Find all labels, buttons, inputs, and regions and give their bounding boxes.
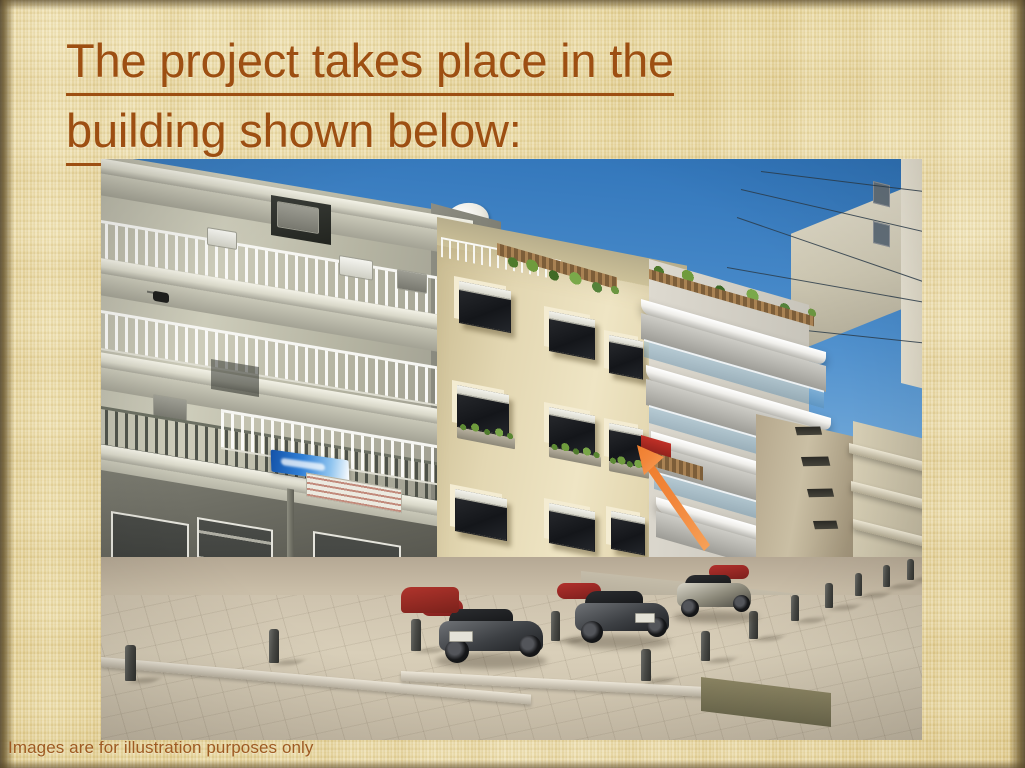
building-photograph xyxy=(101,159,922,740)
slide-edge-bottom xyxy=(0,760,1025,768)
footer-disclaimer: Images are for illustration purposes onl… xyxy=(8,738,314,758)
slide-edge-left xyxy=(0,0,14,768)
photo-vignette xyxy=(101,159,922,740)
title-line-1: The project takes place in the xyxy=(66,30,674,96)
title-line-2: building shown below: xyxy=(66,100,522,166)
slide-edge-top xyxy=(0,0,1025,10)
slide-edge-right xyxy=(1009,0,1025,768)
slide-canvas: The project takes place in the building … xyxy=(0,0,1025,768)
slide-title: The project takes place in the building … xyxy=(66,30,866,166)
